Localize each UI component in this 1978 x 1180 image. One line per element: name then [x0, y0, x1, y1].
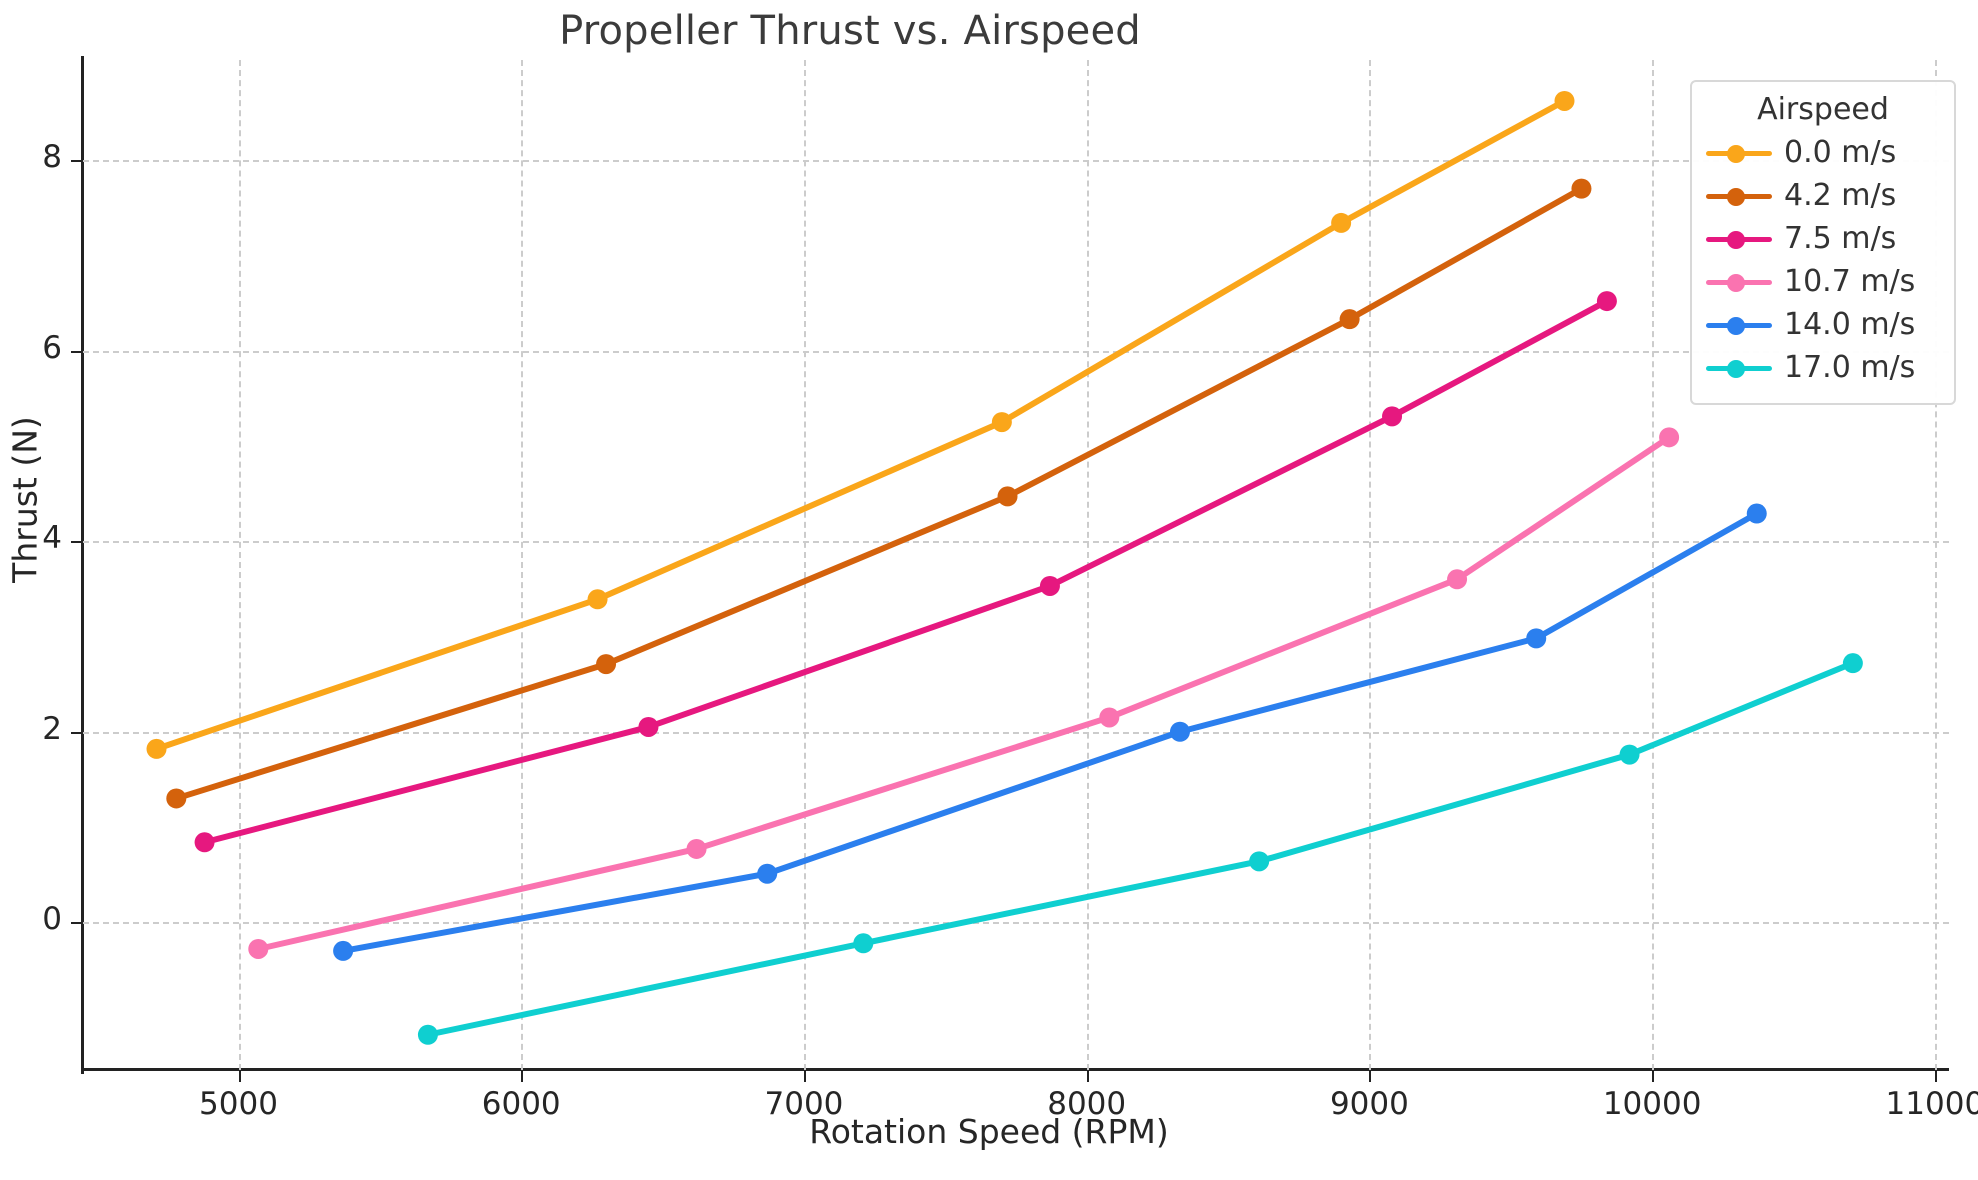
- data-point: [1249, 851, 1269, 871]
- legend-item[interactable]: 7.5 m/s: [1706, 217, 1940, 260]
- series-0-0-m-s: [147, 91, 1575, 759]
- series-7-5-m-s: [195, 291, 1617, 852]
- y-tick-mark: [71, 922, 82, 924]
- legend-swatch: [1706, 184, 1772, 208]
- series-line: [176, 189, 1581, 799]
- y-tick-label: 6: [0, 330, 62, 366]
- y-tick-mark: [71, 541, 82, 543]
- x-tick-mark: [239, 1071, 241, 1082]
- legend-item[interactable]: 4.2 m/s: [1706, 174, 1940, 217]
- data-point: [596, 654, 616, 674]
- y-tick-mark: [71, 732, 82, 734]
- data-point: [992, 412, 1012, 432]
- data-point: [1526, 628, 1546, 648]
- data-point: [998, 486, 1018, 506]
- data-point: [1170, 722, 1190, 742]
- legend-label: 4.2 m/s: [1784, 178, 1896, 213]
- legend-rows: 0.0 m/s4.2 m/s7.5 m/s10.7 m/s14.0 m/s17.…: [1706, 131, 1940, 389]
- data-point: [1331, 213, 1351, 233]
- y-tick-label: 4: [0, 520, 62, 556]
- data-point: [147, 739, 167, 759]
- legend-swatch: [1706, 141, 1772, 165]
- series-4-2-m-s: [166, 179, 1591, 809]
- legend-marker-dot: [1727, 360, 1745, 378]
- y-tick-mark: [71, 351, 82, 353]
- legend-swatch: [1706, 313, 1772, 337]
- series-line: [428, 663, 1853, 1035]
- data-point: [1040, 576, 1060, 596]
- x-tick-label: 5000: [139, 1086, 339, 1122]
- data-point: [588, 589, 608, 609]
- data-point: [333, 941, 353, 961]
- series-line: [205, 301, 1607, 842]
- y-tick-label: 2: [0, 711, 62, 747]
- chart-root: Propeller Thrust vs. Airspeed Thrust (N)…: [0, 0, 1978, 1180]
- x-tick-mark: [1087, 1071, 1089, 1082]
- legend-label: 7.5 m/s: [1784, 221, 1896, 256]
- series-10-7-m-s: [248, 427, 1679, 959]
- data-point: [195, 832, 215, 852]
- x-tick-label: 6000: [421, 1086, 621, 1122]
- data-point: [1659, 427, 1679, 447]
- data-point: [1747, 504, 1767, 524]
- x-tick-mark: [1652, 1071, 1654, 1082]
- data-point: [687, 839, 707, 859]
- x-tick-label: 9000: [1269, 1086, 1469, 1122]
- x-tick-mark: [804, 1071, 806, 1082]
- data-point: [1620, 745, 1640, 765]
- legend-swatch: [1706, 227, 1772, 251]
- legend-item[interactable]: 14.0 m/s: [1706, 303, 1940, 346]
- y-tick-mark: [71, 160, 82, 162]
- data-point: [1554, 91, 1574, 111]
- x-tick-mark: [1935, 1071, 1937, 1082]
- legend-label: 17.0 m/s: [1784, 350, 1915, 385]
- legend-swatch: [1706, 356, 1772, 380]
- legend[interactable]: Airspeed 0.0 m/s4.2 m/s7.5 m/s10.7 m/s14…: [1690, 80, 1956, 405]
- data-point: [1571, 179, 1591, 199]
- y-tick-label: 0: [0, 901, 62, 937]
- legend-marker-dot: [1727, 145, 1745, 163]
- data-point: [418, 1025, 438, 1045]
- data-point: [1099, 707, 1119, 727]
- plot-area: [83, 60, 1949, 1070]
- series-14-0-m-s: [333, 504, 1767, 961]
- legend-label: 0.0 m/s: [1784, 135, 1896, 170]
- legend-marker-dot: [1727, 188, 1745, 206]
- legend-item[interactable]: 10.7 m/s: [1706, 260, 1940, 303]
- legend-item[interactable]: 17.0 m/s: [1706, 346, 1940, 389]
- y-tick-label: 8: [0, 139, 62, 175]
- data-point: [1597, 291, 1617, 311]
- legend-label: 10.7 m/s: [1784, 264, 1915, 299]
- data-point: [1382, 406, 1402, 426]
- x-tick-label: 11000: [1835, 1086, 1978, 1122]
- x-tick-mark: [1369, 1071, 1371, 1082]
- data-point: [638, 717, 658, 737]
- data-point: [1340, 309, 1360, 329]
- legend-label: 14.0 m/s: [1784, 307, 1915, 342]
- series-17-0-m-s: [418, 653, 1863, 1045]
- legend-marker-dot: [1727, 231, 1745, 249]
- x-tick-mark: [521, 1071, 523, 1082]
- data-point: [166, 788, 186, 808]
- page-title: Propeller Thrust vs. Airspeed: [0, 8, 1700, 54]
- legend-swatch: [1706, 270, 1772, 294]
- x-tick-label: 7000: [704, 1086, 904, 1122]
- data-point: [853, 933, 873, 953]
- legend-marker-dot: [1727, 274, 1745, 292]
- data-point: [757, 864, 777, 884]
- x-tick-label: 8000: [987, 1086, 1187, 1122]
- legend-title: Airspeed: [1706, 92, 1940, 127]
- legend-item[interactable]: 0.0 m/s: [1706, 131, 1940, 174]
- data-point: [1447, 569, 1467, 589]
- data-point: [1843, 653, 1863, 673]
- x-tick-label: 10000: [1552, 1086, 1752, 1122]
- legend-marker-dot: [1727, 317, 1745, 335]
- series-layer: [83, 60, 1949, 1070]
- data-point: [248, 939, 268, 959]
